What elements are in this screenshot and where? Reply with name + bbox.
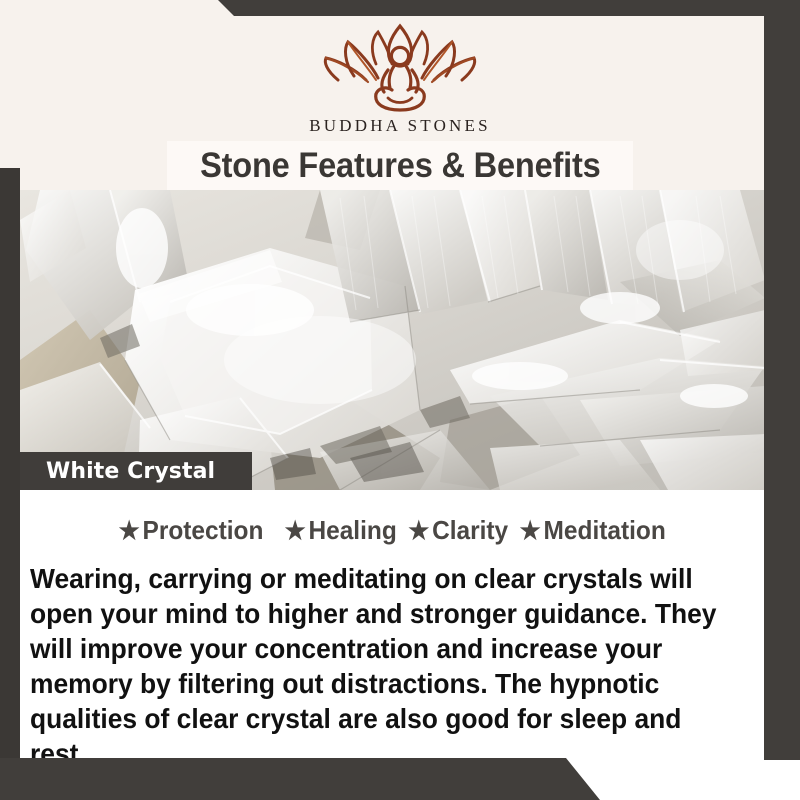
star-icon: ★: [408, 517, 429, 545]
benefit-label: Protection: [143, 515, 264, 545]
page-title: Stone Features & Benefits: [200, 146, 601, 186]
star-icon: ★: [285, 517, 306, 545]
star-icon: ★: [119, 517, 140, 545]
benefit-item-meditation: ★Meditation: [520, 515, 666, 546]
benefit-item-healing: ★Healing: [285, 515, 397, 546]
benefit-label: Clarity: [432, 515, 508, 545]
benefits-list: ★Protection★Healing★Clarity★Meditation: [20, 515, 765, 546]
white-crystal-cluster-photo: [20, 190, 765, 490]
benefit-item-protection: ★Protection: [119, 515, 264, 546]
title-ribbon: Stone Features & Benefits: [167, 141, 633, 190]
description-paragraph: Wearing, carrying or meditating on clear…: [30, 561, 723, 771]
lotus-meditation-icon: [310, 18, 490, 114]
star-icon: ★: [520, 517, 541, 545]
crystal-photo-graphic: [20, 190, 765, 490]
frame-left-bar: [0, 168, 20, 760]
benefit-label: Meditation: [544, 515, 666, 545]
poster-root: BUDDHA STONES: [0, 0, 800, 800]
benefit-label: Healing: [309, 515, 397, 545]
photo-caption: White Crystal: [20, 452, 252, 490]
brand-wordmark: BUDDHA STONES: [0, 116, 800, 136]
brand-logo: BUDDHA STONES: [0, 18, 800, 136]
benefit-item-clarity: ★Clarity: [408, 515, 508, 546]
photo-caption-label: White Crystal: [20, 459, 215, 484]
frame-right-bar: [764, 0, 800, 760]
